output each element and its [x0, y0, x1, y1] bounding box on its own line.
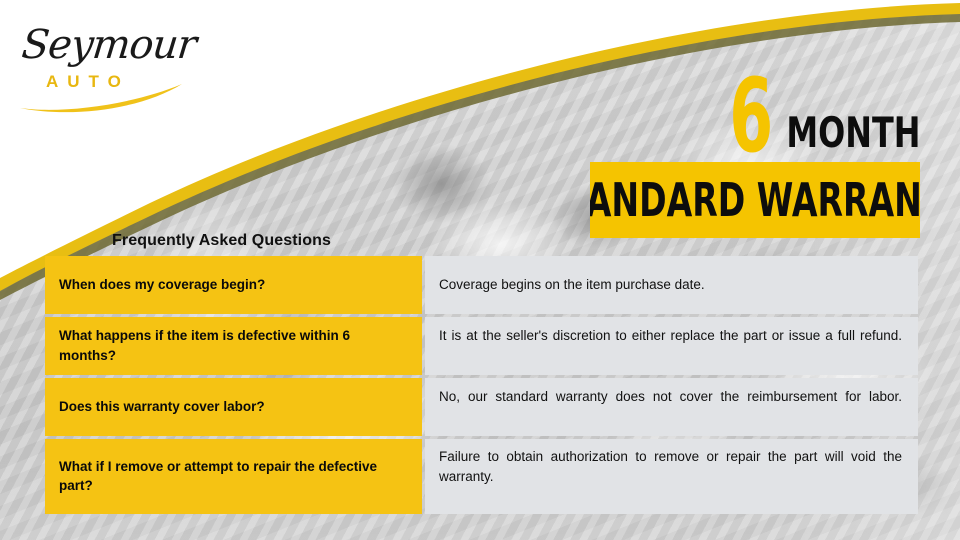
faq-question-cell: When does my coverage begin?	[45, 256, 422, 314]
standard-warranty-title: STANDARD WARRANTY	[590, 177, 920, 223]
faq-heading: Frequently Asked Questions	[112, 232, 331, 250]
faq-table: When does my coverage begin? Coverage be…	[45, 256, 918, 514]
faq-answer-cell: It is at the seller's discretion to eith…	[425, 317, 918, 375]
faq-question-text: When does my coverage begin?	[59, 275, 265, 295]
faq-answer-text: Failure to obtain authorization to remov…	[439, 447, 902, 506]
faq-answer-text: No, our standard warranty does not cover…	[439, 387, 902, 426]
faq-question-cell: Does this warranty cover labor?	[45, 378, 422, 436]
faq-answer-cell: Failure to obtain authorization to remov…	[425, 439, 918, 514]
faq-answer-cell: No, our standard warranty does not cover…	[425, 378, 918, 436]
table-row: When does my coverage begin? Coverage be…	[45, 256, 918, 314]
faq-answer-text: It is at the seller's discretion to eith…	[439, 326, 902, 365]
faq-answer-cell: Coverage begins on the item purchase dat…	[425, 256, 918, 314]
faq-answer-text: Coverage begins on the item purchase dat…	[439, 275, 902, 295]
faq-question-cell: What if I remove or attempt to repair th…	[45, 439, 422, 514]
logo-subtitle: AUTO	[46, 72, 130, 92]
table-row: What happens if the item is defective wi…	[45, 317, 918, 375]
faq-question-text: What if I remove or attempt to repair th…	[59, 457, 408, 496]
seymour-auto-logo: Seymour AUTO	[14, 16, 199, 111]
faq-question-text: What happens if the item is defective wi…	[59, 326, 408, 365]
standard-warranty-banner: STANDARD WARRANTY	[590, 162, 920, 238]
table-row: What if I remove or attempt to repair th…	[45, 439, 918, 514]
table-row: Does this warranty cover labor? No, our …	[45, 378, 918, 436]
faq-question-text: Does this warranty cover labor?	[59, 397, 265, 417]
warranty-faq-slide: Seymour AUTO 6 MONTH STANDARD WARRANTY F…	[0, 0, 960, 540]
warranty-duration-badge: 6 MONTH	[590, 62, 920, 158]
logo-wordmark: Seymour	[20, 22, 198, 68]
warranty-months-label: MONTH	[786, 112, 920, 154]
faq-question-cell: What happens if the item is defective wi…	[45, 317, 422, 375]
warranty-months-number: 6	[729, 72, 772, 162]
